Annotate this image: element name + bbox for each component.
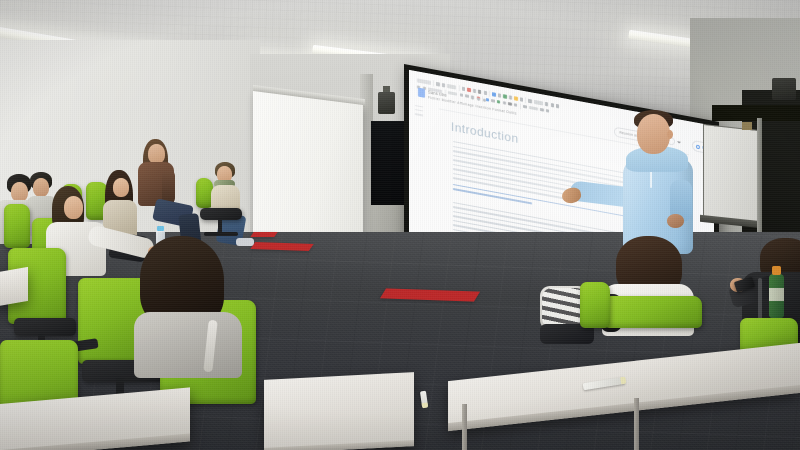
indent-icon[interactable] xyxy=(514,103,517,107)
chair-base xyxy=(204,232,238,236)
head xyxy=(64,196,83,219)
whiteboard xyxy=(703,124,759,223)
image-icon[interactable] xyxy=(497,100,500,104)
star-icon[interactable] xyxy=(471,96,474,100)
projector-mount-icon xyxy=(772,78,796,100)
head xyxy=(11,182,28,202)
classroom-photo: Sans titre Fichier Modifier Affichage In… xyxy=(0,0,800,450)
toolbar-icon[interactable] xyxy=(540,108,543,112)
ceiling-speaker-icon xyxy=(378,92,395,114)
list-icon[interactable] xyxy=(508,102,511,106)
presenter-head xyxy=(637,114,670,154)
presenter-right-hand xyxy=(667,214,684,228)
document-outline-pane[interactable] xyxy=(415,105,431,228)
bottle-cap xyxy=(157,226,164,231)
chair-back xyxy=(4,204,30,248)
chair-seat xyxy=(14,318,76,336)
head xyxy=(113,178,129,197)
bold-icon[interactable] xyxy=(460,93,463,97)
docs-file-icon xyxy=(418,88,425,98)
toolbar-icon[interactable] xyxy=(529,106,538,111)
red-floor-strip-3 xyxy=(250,232,277,237)
torso xyxy=(134,312,242,378)
chair-back xyxy=(580,282,610,328)
head xyxy=(148,144,165,164)
italic-icon[interactable] xyxy=(465,94,468,98)
bottle-label xyxy=(769,288,784,301)
toolbar-icon[interactable] xyxy=(546,109,549,113)
outline-line xyxy=(415,105,423,108)
presenter-ear xyxy=(667,130,673,139)
table-leg xyxy=(462,404,467,450)
wall-recess-panel xyxy=(371,121,405,207)
align-icon[interactable] xyxy=(503,101,506,105)
font-size-stepper[interactable] xyxy=(448,91,457,96)
toolbar-separator xyxy=(520,103,521,109)
outline-line xyxy=(415,113,423,116)
clear-format-icon[interactable] xyxy=(523,105,526,109)
comment-icon[interactable] xyxy=(491,99,494,103)
whiteboard-clip xyxy=(742,122,752,130)
outline-line xyxy=(415,109,423,112)
folder-icon[interactable] xyxy=(477,97,480,101)
chair-back xyxy=(604,296,702,328)
bottle-cap-orange xyxy=(772,266,781,275)
wall-lintel xyxy=(712,105,800,121)
table-leg xyxy=(634,398,639,450)
cloud-icon[interactable] xyxy=(483,98,486,102)
head xyxy=(33,178,49,197)
table-mid-left xyxy=(264,372,414,450)
blank-projection-screen xyxy=(253,91,363,253)
table-left-back xyxy=(0,267,28,307)
shoes xyxy=(236,238,254,246)
